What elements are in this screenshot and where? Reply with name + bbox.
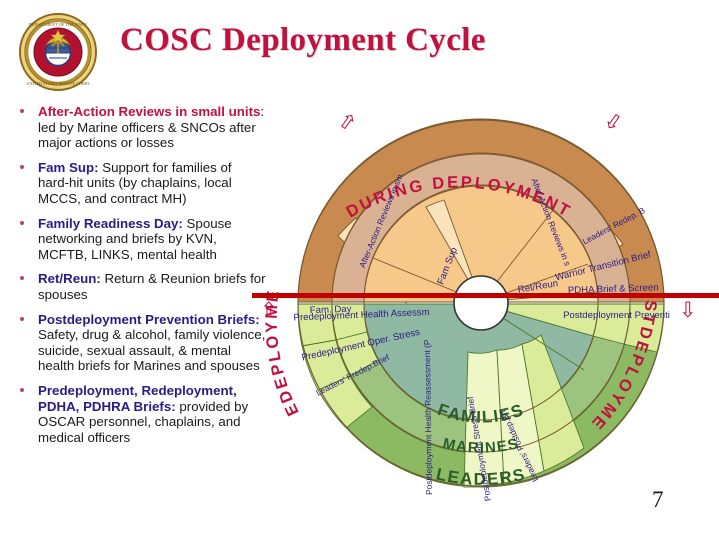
bullet-dot-icon bbox=[20, 317, 24, 321]
list-item: Postdeployment Prevention Briefs: Safety… bbox=[4, 312, 266, 374]
arrow-predeployment-up-icon: ⇧ bbox=[260, 300, 278, 321]
list-item: Ret/Reun: Return & Reunion briefs for sp… bbox=[4, 271, 266, 302]
phase-label-predeployment: PREDEPLOYMENT bbox=[236, 78, 303, 419]
bullet-term: After-Action Reviews in small units bbox=[38, 104, 260, 119]
marine-corps-seal-icon: DEPARTMENT OF THE NAVY UNITED STATES MAR… bbox=[18, 12, 98, 92]
bullet-term: Fam Sup: bbox=[38, 160, 99, 175]
page-number: 7 bbox=[652, 487, 664, 513]
bullet-dot-icon bbox=[20, 109, 24, 113]
bullet-term: Ret/Reun: bbox=[38, 271, 101, 286]
bullet-desc: Safety, drug & alcohol, family violence,… bbox=[38, 327, 265, 373]
bullet-dot-icon bbox=[20, 276, 24, 280]
list-item: Family Readiness Day: Spouse networking … bbox=[4, 216, 266, 263]
bullet-list: After-Action Reviews in small units: led… bbox=[4, 104, 266, 454]
svg-text:DEPARTMENT OF THE NAVY: DEPARTMENT OF THE NAVY bbox=[29, 22, 88, 27]
bullet-dot-icon bbox=[20, 165, 24, 169]
wheel-hub bbox=[454, 276, 508, 330]
bullet-dot-icon bbox=[20, 221, 24, 225]
page-title: COSC Deployment Cycle bbox=[120, 22, 486, 59]
list-item: After-Action Reviews in small units: led… bbox=[4, 104, 266, 151]
bullet-term: Family Readiness Day: bbox=[38, 216, 183, 231]
list-item: Predeployment, Redeployment, PDHA, PDHRA… bbox=[4, 383, 266, 445]
bullet-dot-icon bbox=[20, 388, 24, 392]
bullet-term: Postdeployment Prevention Briefs: bbox=[38, 312, 260, 327]
svg-text:UNITED STATES MARINE CORPS: UNITED STATES MARINE CORPS bbox=[26, 81, 90, 86]
list-item: Fam Sup: Support for families of hard-hi… bbox=[4, 160, 266, 207]
cosc-deployment-cycle-wheel: DURING DEPLOYMENT PREDEPLOYMENT POSTDEPL… bbox=[236, 78, 719, 533]
arrow-postdeployment-down-icon: ⇩ bbox=[679, 300, 697, 321]
phase-divider-line bbox=[252, 293, 719, 298]
